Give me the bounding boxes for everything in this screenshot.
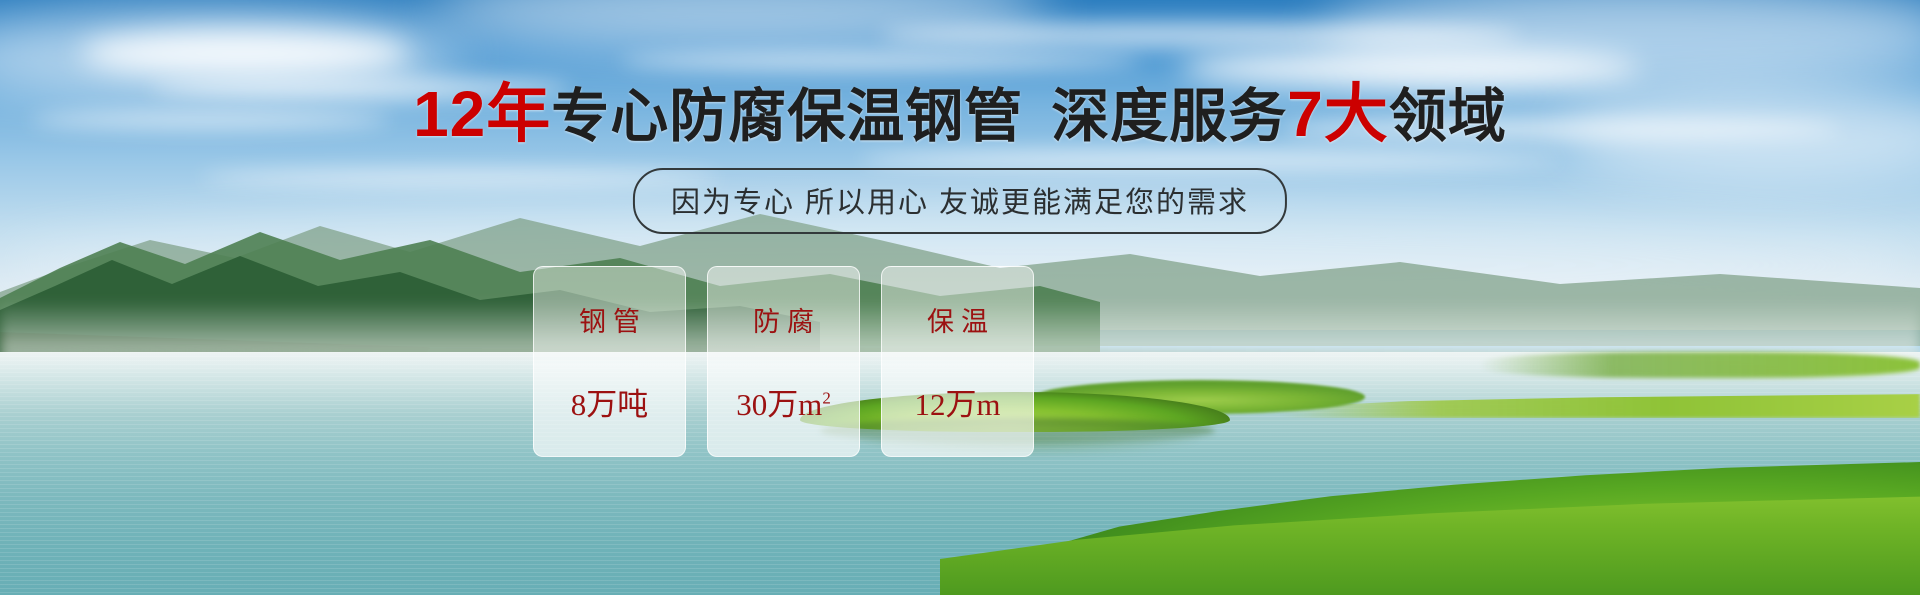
stat-cards: 钢管 8万吨 防腐 30万m2 保温 12万m <box>533 266 1034 457</box>
stat-card-title: 钢管 <box>572 300 647 339</box>
stat-card-value: 12万m <box>914 379 1000 424</box>
headline-accent-years: 12年 <box>413 78 551 150</box>
headline-text-service: 深度服务 <box>1051 84 1287 149</box>
headline-text-main: 专心防腐保温钢管 <box>551 84 1023 149</box>
stat-card: 钢管 8万吨 <box>533 266 686 457</box>
stat-card: 保温 12万m <box>881 266 1034 457</box>
stat-card-value: 30万m2 <box>736 379 831 424</box>
stat-card-value-text: 30万m <box>736 387 822 422</box>
stat-card-value-text: 12万m <box>914 387 1000 422</box>
stat-card-value: 8万吨 <box>571 379 649 424</box>
stat-card-value-superscript: 2 <box>822 388 831 407</box>
banner-content: 12年专心防腐保温钢管深度服务7大领域 因为专心 所以用心 友诚更能满足您的需求… <box>0 0 1920 595</box>
headline-accent-fields: 7大 <box>1287 78 1389 150</box>
stat-card-title: 保温 <box>920 300 995 339</box>
headline-text-domain: 领域 <box>1389 84 1507 149</box>
stat-card-title: 防腐 <box>746 300 821 339</box>
hero-banner: 12年专心防腐保温钢管深度服务7大领域 因为专心 所以用心 友诚更能满足您的需求… <box>0 0 1920 595</box>
banner-subtitle-pill: 因为专心 所以用心 友诚更能满足您的需求 <box>633 168 1287 234</box>
stat-card: 防腐 30万m2 <box>707 266 860 457</box>
stat-card-value-text: 8万吨 <box>571 387 649 422</box>
banner-headline: 12年专心防腐保温钢管深度服务7大领域 <box>0 82 1920 146</box>
